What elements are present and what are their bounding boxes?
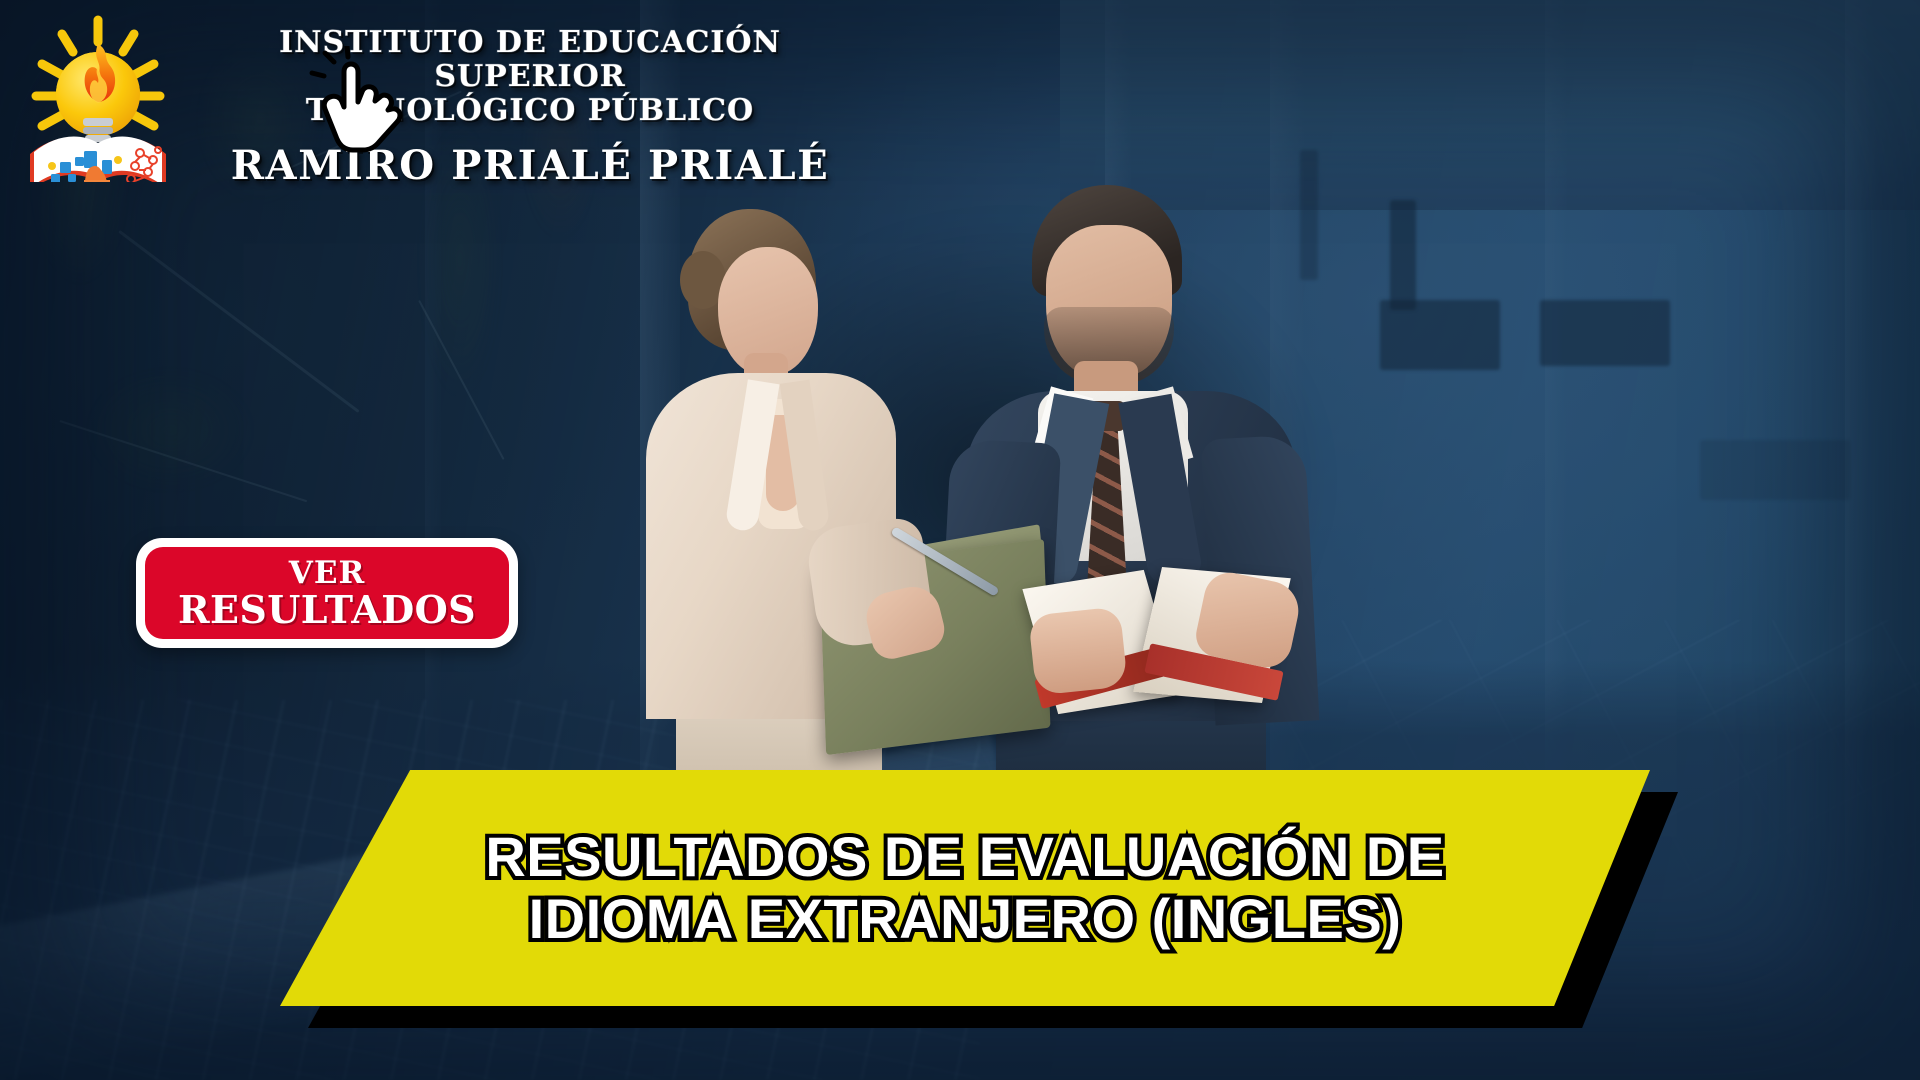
promo-banner-page: INSTITUTO DE EDUCACIÓN SUPERIOR TECNOLÓG… (0, 0, 1920, 1080)
institution-logo (22, 14, 174, 182)
results-banner: RESULTADOS DE EVALUACIÓN DE IDIOMA EXTRA… (280, 770, 1730, 1060)
institution-line-1: INSTITUTO DE EDUCACIÓN SUPERIOR (190, 26, 870, 94)
open-book-icon (30, 137, 166, 182)
ver-resultados-label-line1: VER (289, 558, 365, 588)
institution-line-2: TECNOLÓGICO PÚBLICO (190, 94, 870, 128)
banner-shape: RESULTADOS DE EVALUACIÓN DE IDIOMA EXTRA… (280, 770, 1650, 1006)
ver-resultados-button-inner[interactable]: VER RESULTADOS (145, 547, 509, 639)
ver-resultados-label-line2: RESULTADOS (178, 591, 476, 628)
institution-name: RAMIRO PRIALÉ PRIALÉ (190, 145, 870, 187)
people-photo-cutout (640, 185, 1380, 715)
banner-title-line1: RESULTADOS DE EVALUACIÓN DE (485, 826, 1444, 888)
flame-icon (85, 44, 115, 103)
man-hand-left (1028, 606, 1128, 695)
banner-title: RESULTADOS DE EVALUACIÓN DE IDIOMA EXTRA… (425, 826, 1504, 949)
ver-resultados-button-wrapper[interactable]: VER RESULTADOS (136, 538, 518, 648)
ver-resultados-button[interactable]: VER RESULTADOS (136, 538, 518, 648)
banner-title-line2: IDIOMA EXTRANJERO (INGLES) (485, 888, 1444, 950)
institution-header: INSTITUTO DE EDUCACIÓN SUPERIOR TECNOLÓG… (190, 26, 870, 187)
